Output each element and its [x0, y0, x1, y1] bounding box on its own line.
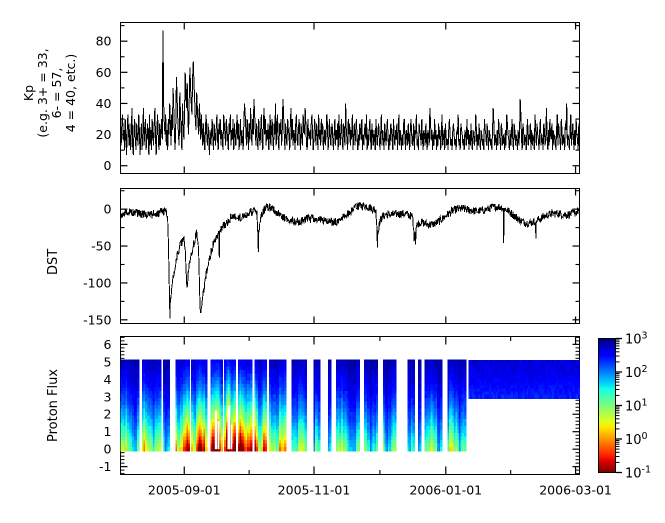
dst-series-line — [121, 202, 580, 318]
ytick-label-dst: -150 — [83, 312, 111, 327]
data-gap — [227, 406, 230, 450]
ytick-label-proton: 1 — [104, 424, 112, 439]
xtick-label: 2006-03-01 — [539, 483, 612, 498]
xtick-label: 2005-09-01 — [148, 483, 221, 498]
xtick-label: 2005-11-01 — [278, 483, 351, 498]
ytick-label-kp: 20 — [96, 127, 112, 142]
ytick-label-kp: 80 — [96, 34, 112, 49]
ytick-label-kp: 60 — [96, 65, 112, 80]
data-gap — [231, 425, 233, 449]
colorbar-tick-label: 102 — [625, 364, 648, 381]
xtick-label: 2006-01-01 — [409, 483, 482, 498]
ytick-label-dst: -50 — [91, 239, 111, 254]
ytick-label-kp: 0 — [104, 158, 112, 173]
plot-overlay: 0204060800-50-100-150-101234562005-09-01… — [0, 0, 665, 523]
ytick-label-proton: 4 — [104, 372, 112, 387]
ytick-label-proton: 6 — [104, 337, 112, 352]
ytick-label-proton: 0 — [104, 442, 112, 457]
data-gap — [218, 421, 220, 449]
data-gap — [215, 411, 217, 449]
kp-series-line — [121, 30, 580, 155]
ytick-label-kp: 40 — [96, 96, 112, 111]
ytick-label-dst: 0 — [104, 202, 112, 217]
ytick-label-proton: 2 — [104, 407, 112, 422]
ytick-label-proton: 5 — [104, 354, 112, 369]
ytick-label-dst: -100 — [83, 275, 111, 290]
colorbar-tick-label: 101 — [625, 398, 648, 415]
colorbar-tick-label: 103 — [625, 331, 648, 348]
proton-flux-spectrogram — [121, 360, 581, 452]
ytick-label-proton: 3 — [104, 389, 112, 404]
ytick-label-proton: -1 — [99, 459, 111, 474]
figure-root: Kp (e.g. 3+ = 33, 6- = 57, 4 = 40, etc.)… — [0, 0, 665, 523]
colorbar-tick-label: 10-1 — [625, 465, 651, 482]
colorbar-tick-label: 100 — [625, 431, 648, 448]
